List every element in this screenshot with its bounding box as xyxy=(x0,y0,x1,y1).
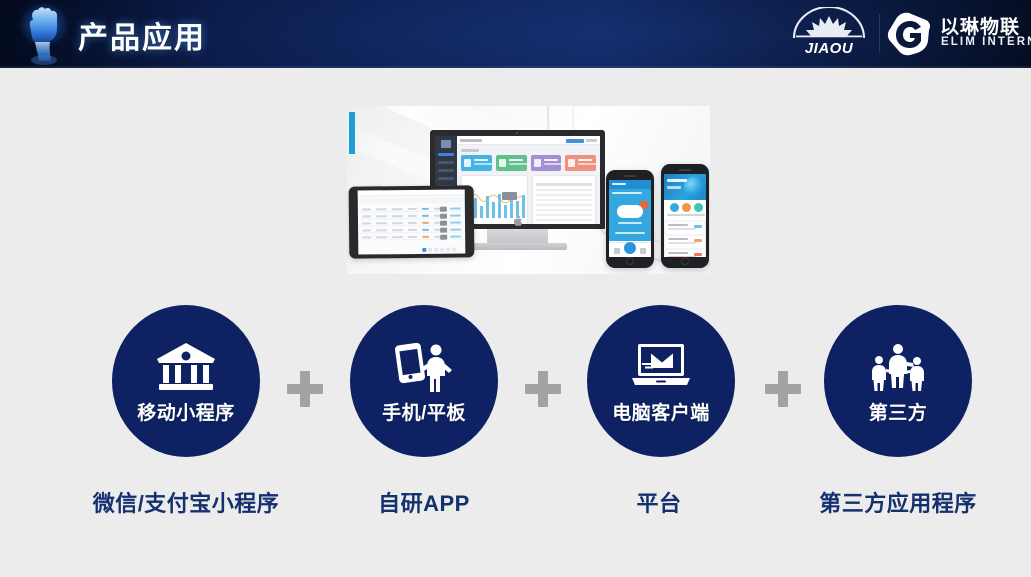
apple-logo-icon xyxy=(514,216,523,226)
data-table xyxy=(532,175,596,225)
banner-sub xyxy=(667,186,681,189)
plus-connector-2 xyxy=(525,371,561,407)
table-row xyxy=(360,212,463,219)
elim-logo-cn: 以琳物联 xyxy=(940,12,1020,39)
laptop-mail-icon xyxy=(629,338,693,396)
phone-person-icon-svg xyxy=(393,340,455,394)
plus-connector-3 xyxy=(765,371,801,407)
topbar-primary-button xyxy=(566,139,584,143)
page-title: 产品应用 xyxy=(78,13,206,57)
sunburst-arc-icon xyxy=(790,7,868,41)
channel-label: 移动小程序 xyxy=(137,398,235,425)
phone-speaker xyxy=(624,175,637,177)
channel-circle-mini-program[interactable]: 移动小程序 xyxy=(112,305,260,457)
chart-bar xyxy=(480,206,483,218)
app-tabbar xyxy=(609,242,651,257)
table-row xyxy=(360,205,463,212)
table-row xyxy=(536,189,592,191)
quick-action-row xyxy=(664,202,706,219)
people-group-icon-svg xyxy=(866,342,930,392)
stat-card xyxy=(531,155,562,171)
app-message xyxy=(612,192,642,194)
quick-action-icon xyxy=(670,203,679,212)
logo-divider xyxy=(879,14,880,52)
home-button xyxy=(681,257,689,265)
stat-card-sub xyxy=(509,163,531,165)
imac-stand-foot xyxy=(468,243,567,250)
camera-dot xyxy=(516,132,518,134)
jiaou-logo-text: JIAOU xyxy=(786,40,872,57)
tablet-topbar xyxy=(358,189,465,196)
sidebar-item xyxy=(438,177,454,180)
stat-card-sub xyxy=(578,163,600,165)
channel-circle-desktop[interactable]: 电脑客户端 xyxy=(587,305,735,457)
g-hexagon-icon xyxy=(886,12,932,56)
chart-bar xyxy=(522,195,525,218)
tablet-filter-bar xyxy=(360,197,463,203)
stat-card-icon xyxy=(499,159,506,167)
app-caption xyxy=(615,232,645,234)
stat-card-icon xyxy=(464,159,471,167)
phone-device xyxy=(661,164,709,268)
app-caption xyxy=(618,222,642,224)
list-item xyxy=(666,222,704,234)
quick-action-label xyxy=(691,214,705,216)
table-row xyxy=(536,219,592,221)
caption-third-party: 第三方应用程序 xyxy=(748,486,1031,518)
stat-card-row xyxy=(461,155,596,171)
chart-bar xyxy=(492,202,495,218)
dashboard-topbar xyxy=(457,136,600,145)
channel-label: 手机/平板 xyxy=(382,398,466,425)
table-row xyxy=(536,209,592,211)
app-header xyxy=(609,180,651,189)
chart-tooltip xyxy=(502,192,517,200)
stat-card-title xyxy=(544,159,558,161)
chart-bar xyxy=(486,196,489,218)
app-hero-panel xyxy=(609,189,651,241)
banner-title xyxy=(667,179,687,182)
table-row xyxy=(536,194,592,196)
people-group-icon xyxy=(866,338,930,396)
sidebar-item xyxy=(438,153,454,156)
dashboard-logo xyxy=(441,140,451,148)
app-list xyxy=(664,220,706,257)
fist-icon-svg xyxy=(18,4,70,66)
topbar-secondary xyxy=(586,139,597,142)
table-row xyxy=(360,219,463,226)
app-banner xyxy=(664,174,706,200)
dashboard-body xyxy=(457,145,600,224)
stat-card-title xyxy=(578,159,592,161)
phone-app-ui xyxy=(664,174,706,257)
fist-icon xyxy=(12,0,76,68)
chart-bar xyxy=(504,205,507,218)
chart-bar xyxy=(516,201,519,218)
topbar-breadcrumb xyxy=(460,139,482,142)
chart-bar xyxy=(498,194,501,218)
table-row xyxy=(536,199,592,201)
table-row xyxy=(536,214,592,216)
tablet-table-ui xyxy=(358,189,466,254)
elim-logo: 以琳物联 ELIM INTERNET xyxy=(886,10,1020,58)
table-row xyxy=(360,233,463,240)
quick-action-icon xyxy=(682,203,691,212)
table-pagination xyxy=(422,247,462,251)
table-row xyxy=(536,204,592,206)
tab-item xyxy=(614,248,620,254)
stat-card-sub xyxy=(474,163,496,165)
stat-card-icon xyxy=(568,159,575,167)
sidebar-item xyxy=(438,161,454,164)
stat-card-title xyxy=(474,159,488,161)
table-header xyxy=(536,183,592,186)
slide-root: 产品应用 JIAOU 以琳物联 ELIM INTERNET xyxy=(0,0,1031,577)
header-bottom-line xyxy=(0,66,1031,68)
section-label xyxy=(461,149,479,152)
list-item xyxy=(666,236,704,248)
status-bubble xyxy=(617,205,643,218)
app-header-title xyxy=(612,183,626,185)
channel-circle-third-party[interactable]: 第三方 xyxy=(824,305,972,457)
laptop-mail-icon-svg xyxy=(629,342,693,392)
page-header: 产品应用 JIAOU 以琳物联 ELIM INTERNET xyxy=(0,0,1031,68)
channel-label: 电脑客户端 xyxy=(612,398,710,425)
tab-item-primary xyxy=(624,242,636,254)
channel-label: 第三方 xyxy=(869,398,928,425)
accent-bar xyxy=(349,112,355,154)
plus-connector-1 xyxy=(287,371,323,407)
caption-row: 微信/支付宝小程序 自研APP 平台 第三方应用程序 xyxy=(0,486,1031,526)
bank-building-icon-svg xyxy=(155,341,217,393)
stat-card xyxy=(461,155,492,171)
bank-building-icon xyxy=(154,338,218,396)
stat-card-title xyxy=(509,159,523,161)
stat-card-sub xyxy=(544,163,566,165)
tablet-device xyxy=(349,185,475,258)
phone-speaker xyxy=(679,169,692,171)
home-button xyxy=(626,257,634,265)
phone-person-icon xyxy=(392,338,456,396)
stat-card-icon xyxy=(534,159,541,167)
stat-card xyxy=(496,155,527,171)
channel-circle-row: 移动小程序 手机/平板 xyxy=(0,305,1031,457)
chart-bar xyxy=(474,198,477,218)
multi-device-mockup xyxy=(347,106,710,274)
sidebar-item xyxy=(438,169,454,172)
dashboard-widget-row xyxy=(461,175,596,225)
tab-item xyxy=(640,248,646,254)
stat-card xyxy=(565,155,596,171)
elim-logo-en: ELIM INTERNET xyxy=(941,36,1031,48)
imac-stand-neck xyxy=(487,229,548,243)
table-row xyxy=(360,226,463,233)
jiaou-logo: JIAOU xyxy=(786,7,872,59)
quick-action-icon xyxy=(694,203,703,212)
channel-circle-mobile[interactable]: 手机/平板 xyxy=(350,305,498,457)
phone-device xyxy=(606,170,654,268)
list-item xyxy=(666,250,704,257)
chart-bar xyxy=(510,197,513,218)
phone-app-ui xyxy=(609,180,651,257)
